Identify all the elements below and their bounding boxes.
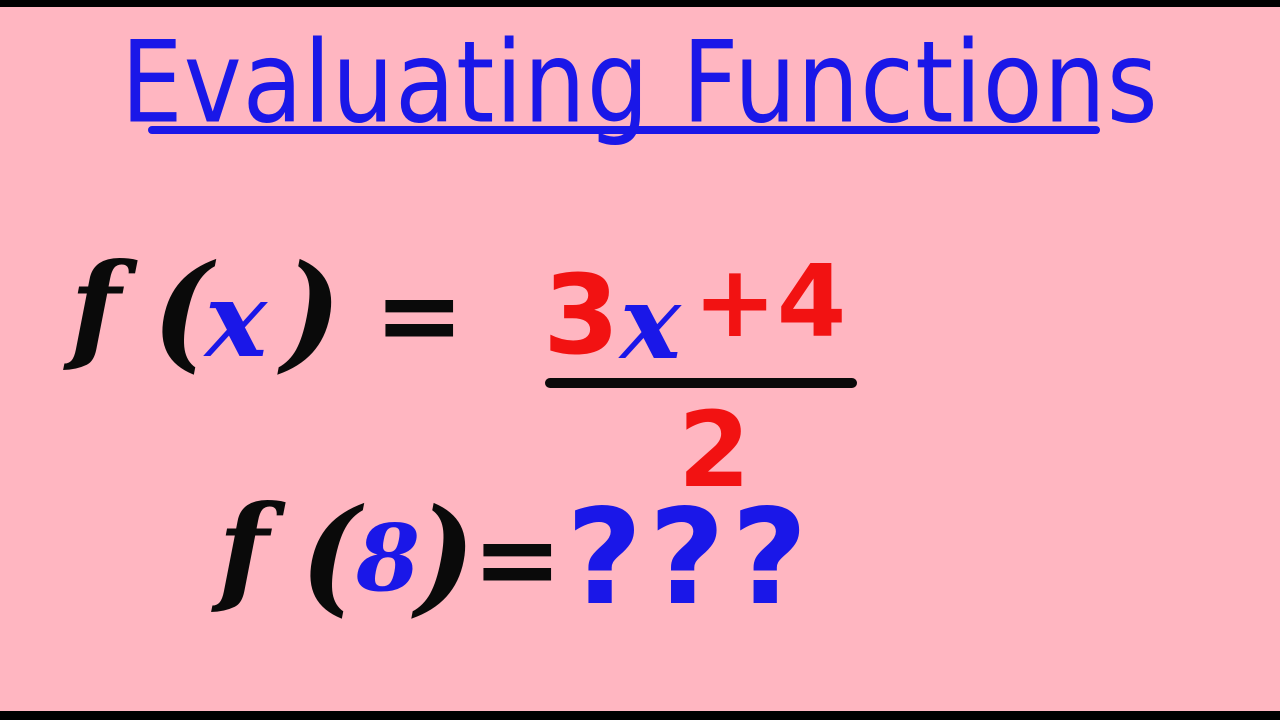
equation-two-input-value: 8 — [356, 512, 420, 604]
equation-one-right-paren: ) — [282, 248, 342, 374]
equation-one-variable: x — [205, 268, 267, 372]
equation-one-equals-sign: = — [374, 262, 465, 370]
page-title-text: Evaluating Functions — [121, 26, 1159, 139]
slide-canvas: Evaluating Functions f ( x ) = 3 x +4 2 … — [0, 0, 1280, 720]
letterbox-bar-top — [0, 0, 1280, 7]
fraction-bar — [545, 378, 857, 388]
equation-one-left-paren: ( — [152, 248, 212, 374]
letterbox-bar-bottom — [0, 711, 1280, 720]
fraction-numerator-coefficient: 3 — [543, 260, 620, 370]
page-title: Evaluating Functions — [0, 26, 1280, 122]
fraction-numerator-constant: +4 — [693, 252, 846, 352]
page-title-underline — [148, 126, 1100, 134]
equation-two-answer-placeholder: ??? — [566, 492, 814, 624]
equation-two-equals-sign: = — [472, 506, 563, 614]
equation-one-function-letter: f — [70, 248, 121, 366]
equation-two-function-letter: f — [218, 490, 269, 608]
fraction-numerator-variable: x — [620, 272, 681, 374]
equation-two-left-paren: ( — [300, 492, 360, 618]
equation-two-right-paren: ) — [416, 492, 476, 618]
